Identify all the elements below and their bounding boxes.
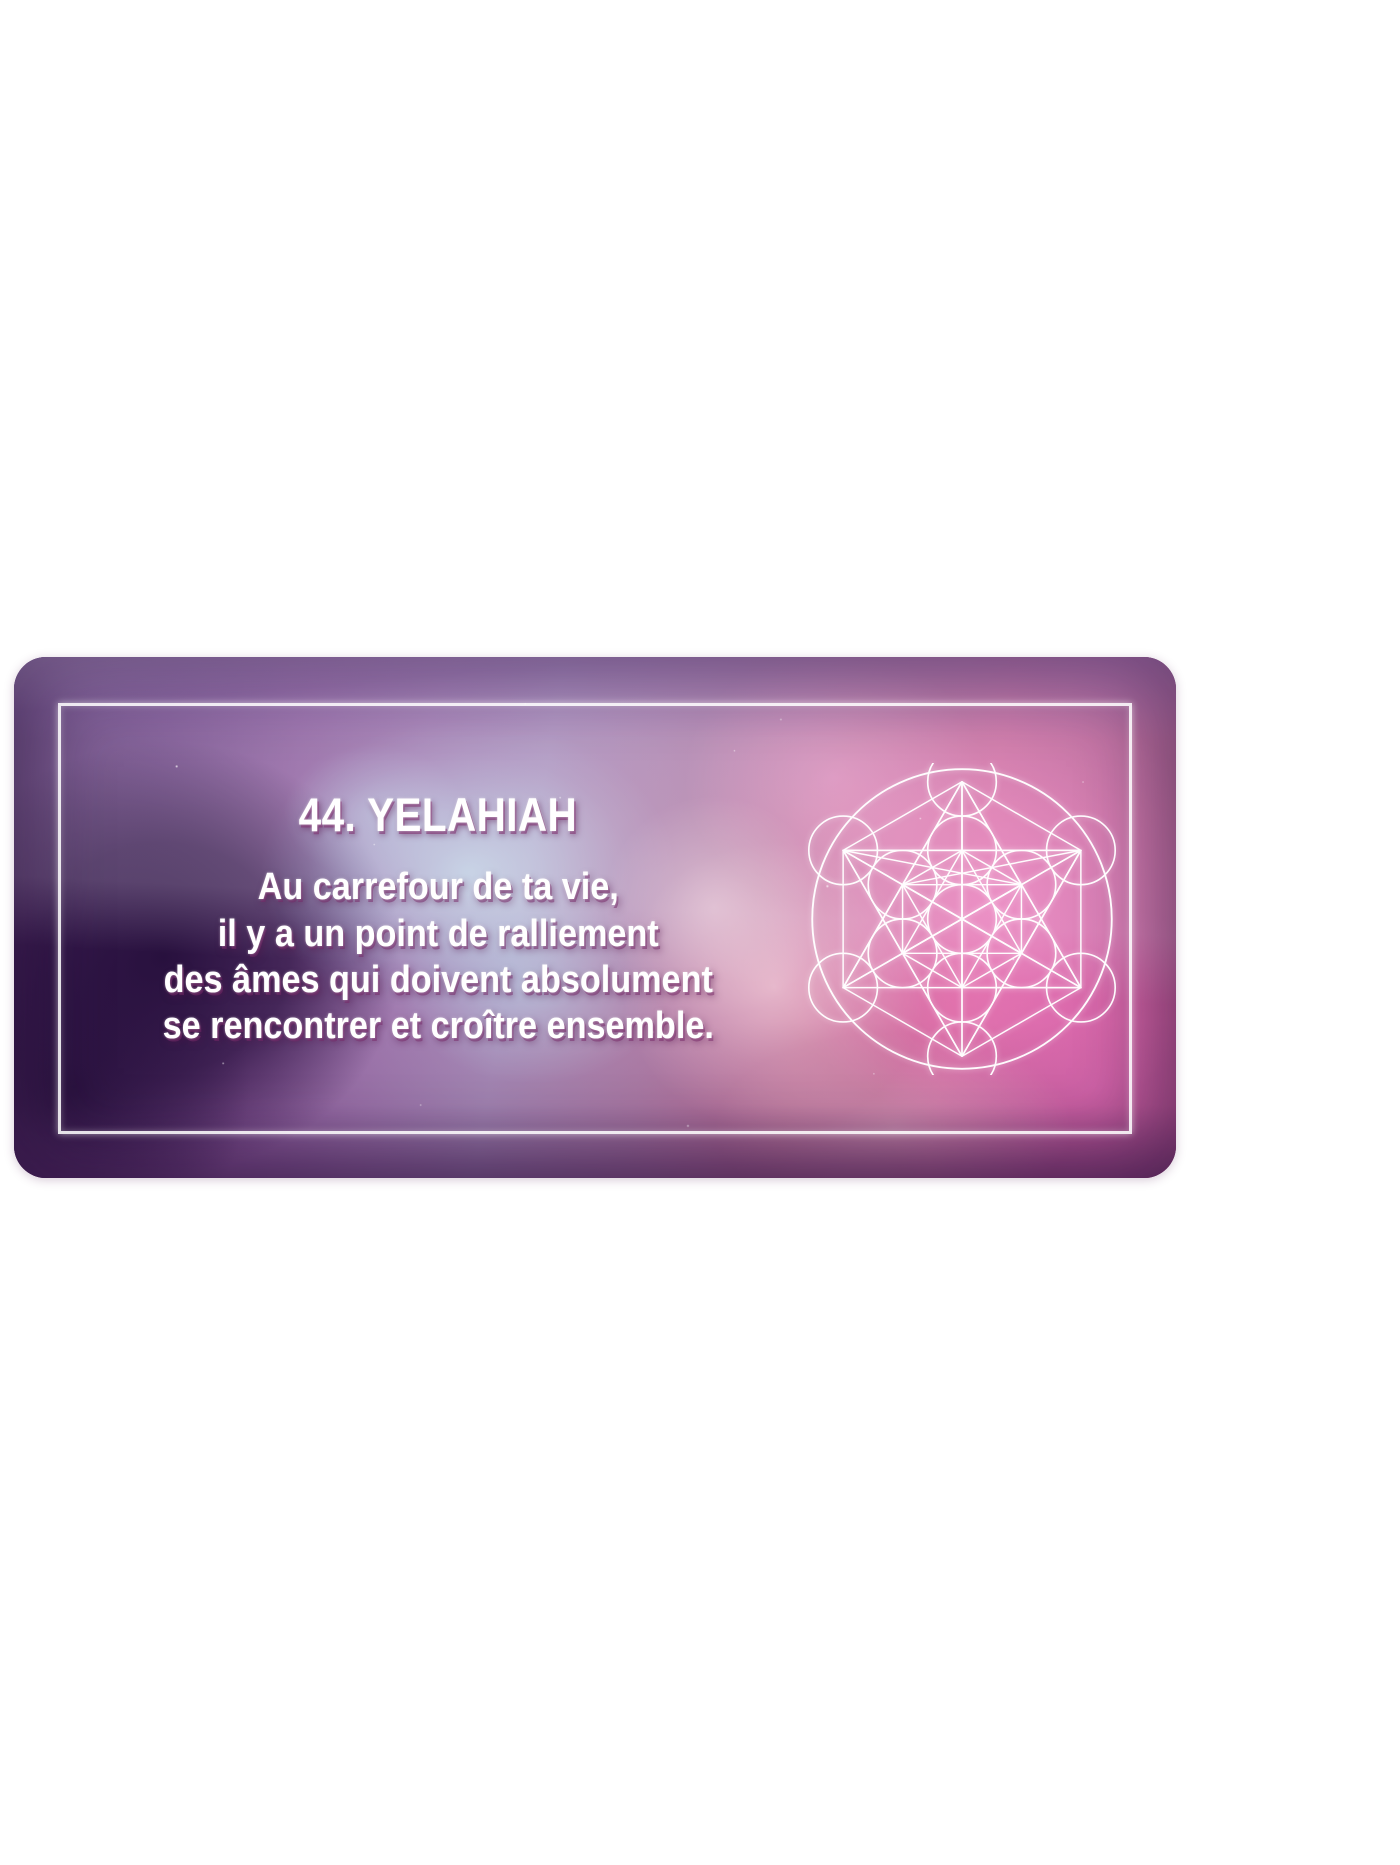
card-text-block: 44. YELAHIAH Au carrefour de ta vie, il …: [88, 703, 788, 1134]
card-title: 44. YELAHIAH: [299, 787, 577, 842]
message-line-1: Au carrefour de ta vie,: [162, 864, 713, 910]
message-line-3: des âmes qui doivent absolument: [162, 957, 713, 1003]
message-line-2: il y a un point de ralliement: [162, 911, 713, 957]
metatron-cube-icon: [806, 763, 1118, 1075]
card-message: Au carrefour de ta vie, il y a un point …: [162, 864, 713, 1049]
message-line-4: se rencontrer et croître ensemble.: [162, 1003, 713, 1049]
card-content: 44. YELAHIAH Au carrefour de ta vie, il …: [58, 703, 1132, 1134]
oracle-card[interactable]: 44. YELAHIAH Au carrefour de ta vie, il …: [14, 657, 1176, 1178]
